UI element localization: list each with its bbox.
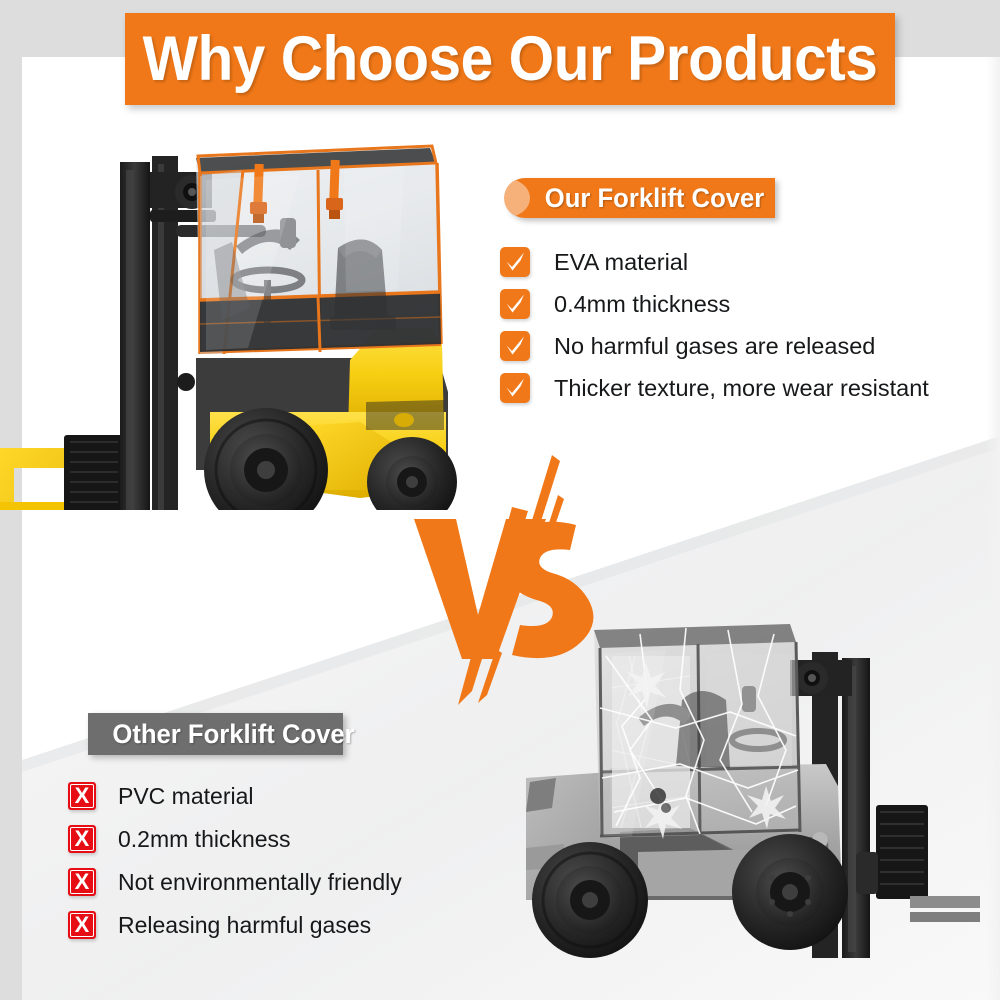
feature-text: EVA material xyxy=(554,249,688,276)
badge-other-cover-label: Other Forklift Cover xyxy=(112,719,354,750)
cross-icon: X xyxy=(68,782,96,810)
list-item: X Not environmentally friendly xyxy=(68,867,518,897)
badge-other-cover: Other Forklift Cover xyxy=(88,713,343,755)
cross-icon: X xyxy=(68,911,96,939)
forklift-bad-image xyxy=(490,600,980,965)
check-icon xyxy=(500,373,530,403)
list-item: X PVC material xyxy=(68,781,518,811)
feature-text: Not environmentally friendly xyxy=(118,869,402,896)
list-item: EVA material xyxy=(500,246,980,278)
forklift-good-image xyxy=(0,130,520,510)
list-item: 0.4mm thickness xyxy=(500,288,980,320)
feature-text: Releasing harmful gases xyxy=(118,912,371,939)
list-item: X 0.2mm thickness xyxy=(68,824,518,854)
check-icon xyxy=(500,331,530,361)
list-item: Thicker texture, more wear resistant xyxy=(500,372,980,404)
cross-icon: X xyxy=(68,868,96,896)
list-item: X Releasing harmful gases xyxy=(68,910,518,940)
feature-text: 0.2mm thickness xyxy=(118,826,291,853)
feature-list-good: EVA material 0.4mm thickness No harmful … xyxy=(500,246,980,414)
cab-cover xyxy=(196,146,441,354)
list-item: No harmful gases are released xyxy=(500,330,980,362)
feature-text: No harmful gases are released xyxy=(554,333,875,360)
check-icon xyxy=(500,289,530,319)
feature-text: PVC material xyxy=(118,783,253,810)
badge-our-cover: Our Forklift Cover xyxy=(505,178,775,218)
badge-our-cover-label: Our Forklift Cover xyxy=(545,183,764,214)
front-tire xyxy=(532,842,648,958)
feature-text: Thicker texture, more wear resistant xyxy=(554,375,929,402)
check-icon xyxy=(500,247,530,277)
feature-text: 0.4mm thickness xyxy=(554,291,730,318)
damaged-cab-cover xyxy=(594,624,800,839)
cross-icon: X xyxy=(68,825,96,853)
rear-tire xyxy=(732,834,848,950)
page-title: Why Choose Our Products xyxy=(152,13,868,105)
forks xyxy=(0,435,124,510)
title-banner: Why Choose Our Products xyxy=(125,13,895,105)
canvas-right-edge-shade xyxy=(986,57,1000,1000)
feature-list-bad: X PVC material X 0.2mm thickness X Not e… xyxy=(68,781,518,953)
infographic-page: Why Choose Our Products xyxy=(0,0,1000,1000)
